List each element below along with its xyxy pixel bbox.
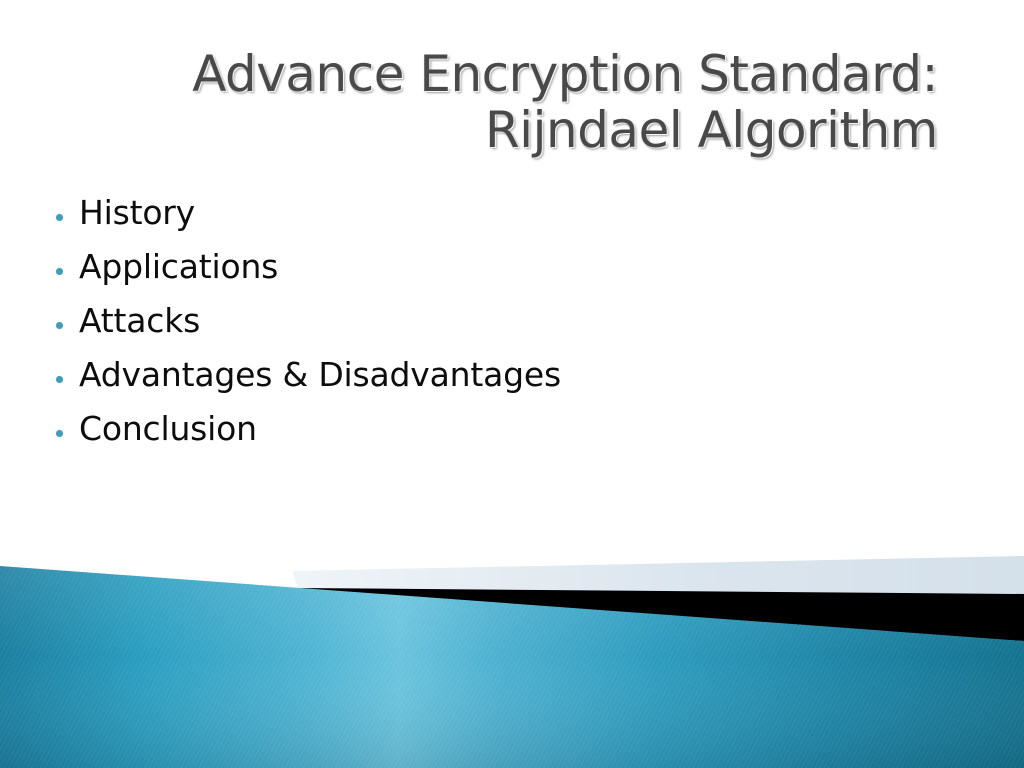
list-item: Applications — [56, 250, 936, 304]
slide-canvas: Advance Encryption Standard: Rijndael Al… — [0, 0, 1024, 768]
list-item: History — [56, 196, 936, 250]
page-title-line-2: Rijndael Algorithm — [60, 102, 938, 158]
angle-wedges-graphic — [0, 538, 1024, 768]
light-wedge — [292, 556, 1024, 594]
list-item-label: Attacks — [79, 304, 200, 337]
bottom-angle-decoration — [0, 538, 1024, 768]
list-item: Conclusion — [56, 412, 936, 466]
page-title: Advance Encryption Standard: Rijndael Al… — [60, 46, 938, 158]
list-item: Attacks — [56, 304, 936, 358]
bullet-dot-icon — [56, 430, 63, 437]
bullet-dot-icon — [56, 268, 63, 275]
list-item-label: Applications — [79, 250, 278, 283]
bullet-list: History Applications Attacks Advantages … — [56, 196, 936, 466]
bullet-dot-icon — [56, 214, 63, 221]
page-title-line-1: Advance Encryption Standard: — [60, 46, 938, 102]
list-item: Advantages & Disadvantages — [56, 358, 936, 412]
bullet-dot-icon — [56, 322, 63, 329]
list-item-label: History — [79, 196, 195, 229]
bullet-dot-icon — [56, 376, 63, 383]
list-item-label: Advantages & Disadvantages — [79, 358, 561, 391]
list-item-label: Conclusion — [79, 412, 257, 445]
